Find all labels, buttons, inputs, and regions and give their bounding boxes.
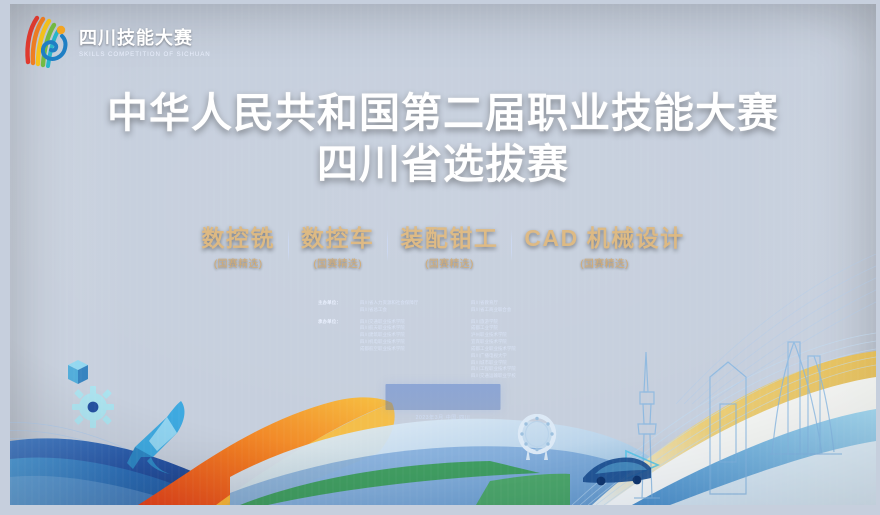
cube-icon: [67, 359, 89, 385]
banner-photo: 四川技能大赛 SKILLS COMPETITION OF SICHUAN 中华人…: [0, 0, 880, 515]
right-wave-band-graphic: [546, 305, 876, 505]
headline-line-2: 四川省选拔赛: [10, 143, 876, 186]
left-blue-swoosh-graphic: [10, 355, 370, 505]
space-shuttle-icon: [123, 399, 195, 477]
undertaker-units-label: 承办单位：: [318, 319, 350, 380]
undertaker-units-right-column: 四川旅游学院 成都工业学院 泸州职业技术学院 宜宾职业技术学院 成都工业职业技术…: [471, 319, 568, 380]
host-units-left-column: 四川省人力资源和社会保障厅 四川省总工会: [360, 300, 457, 314]
headline-line-1: 中华人民共和国第二届职业技能大赛: [10, 92, 876, 135]
event-headline: 中华人民共和国第二届职业技能大赛 四川省选拔赛: [10, 92, 876, 185]
sichuan-skills-logo: 四川技能大赛 SKILLS COMPETITION OF SICHUAN: [22, 14, 211, 69]
undertaker-unit: 四川广播电视大学: [471, 353, 568, 360]
category-item: 数控铣 (国赛精选): [188, 226, 288, 270]
right-top-line-fan-graphic: [626, 254, 876, 404]
host-units-right-column: 四川省教育厅 四川省工商业联合会: [471, 300, 568, 314]
event-date-location: 2023年3月 中国·四川: [416, 414, 471, 421]
undertaker-unit: 四川机电职业技术学院: [360, 339, 457, 346]
category-item: 装配钳工 (国赛精选): [387, 226, 511, 270]
category-subtitle: (国赛精选): [301, 255, 375, 270]
host-units-label: 主办单位：: [318, 300, 350, 314]
host-unit: 四川省总工会: [360, 307, 457, 314]
host-unit: 四川省工商业联合会: [471, 307, 568, 314]
organizer-plate: [386, 384, 501, 410]
host-unit: 四川省教育厅: [471, 300, 568, 307]
gear-icon: [72, 386, 114, 428]
host-units-row: 主办单位： 四川省人力资源和社会保障厅 四川省总工会 四川省教育厅 四川省工商业…: [318, 300, 568, 314]
orange-ribbon-graphic: [130, 395, 400, 505]
undertaker-unit: 成都航空职业技术学院: [360, 346, 457, 353]
left-line-waves-graphic: [10, 304, 330, 505]
car-icon: [581, 452, 653, 488]
logo-title-cn: 四川技能大赛: [79, 29, 211, 47]
category-name: 数控车: [301, 226, 375, 251]
undertaker-unit: 四川交通运输职业学校: [471, 373, 568, 380]
organizer-block: 主办单位： 四川省人力资源和社会保障厅 四川省总工会 四川省教育厅 四川省工商业…: [318, 300, 568, 385]
category-subtitle: (国赛精选): [524, 255, 684, 270]
category-item: CAD 机械设计 (国赛精选): [511, 226, 697, 270]
undertaker-units-left-column: 四川交通职业技术学院 四川航天职业技术学院 四川建筑职业技术学院 四川机电职业技…: [360, 319, 457, 380]
city-skyline-graphic: [610, 322, 870, 505]
category-name: CAD 机械设计: [524, 226, 684, 251]
undertaker-unit: 宜宾职业技术学院: [471, 339, 568, 346]
teal-triangle-graphic: [624, 445, 664, 485]
competition-categories: 数控铣 (国赛精选) 数控车 (国赛精选) 装配钳工 (国赛精选) CAD 机械…: [10, 226, 876, 270]
category-name: 数控铣: [201, 226, 275, 251]
category-item: 数控车 (国赛精选): [288, 226, 388, 270]
event-backdrop-board: 四川技能大赛 SKILLS COMPETITION OF SICHUAN 中华人…: [10, 4, 876, 505]
category-subtitle: (国赛精选): [201, 255, 275, 270]
logo-title-en: SKILLS COMPETITION OF SICHUAN: [79, 51, 211, 58]
undertaker-unit: 成都工业职业技术学院: [471, 346, 568, 353]
undertaker-units-row: 承办单位： 四川交通职业技术学院 四川航天职业技术学院 四川建筑职业技术学院 四…: [318, 319, 568, 380]
rainbow-swoosh-logo-icon: [22, 14, 72, 69]
bearing-ring-icon: [516, 414, 558, 460]
host-unit: 四川省人力资源和社会保障厅: [360, 300, 457, 307]
category-name: 装配钳工: [400, 226, 498, 251]
green-accent-graphic: [240, 447, 570, 505]
category-subtitle: (国赛精选): [400, 255, 498, 270]
